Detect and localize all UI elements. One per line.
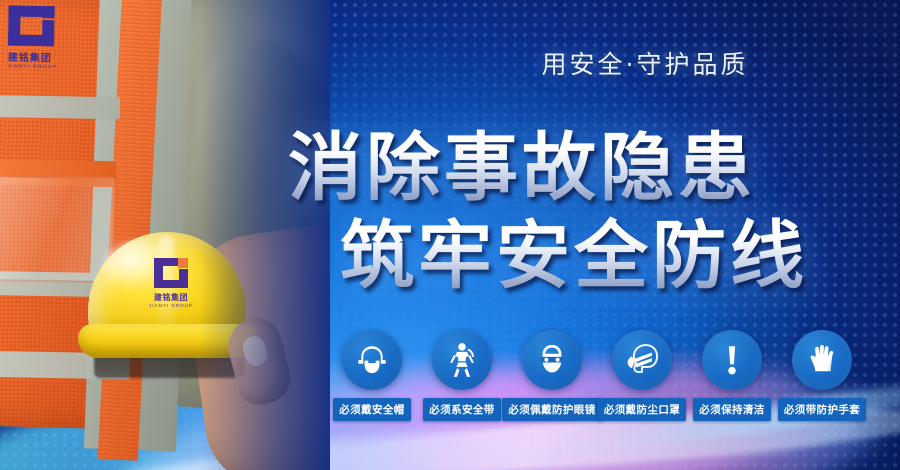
vest-logo-name-en: JIANYI GROUP bbox=[8, 63, 70, 70]
safety-gloves-icon bbox=[792, 330, 852, 390]
poster-subtitle: 用安全·守护品质 bbox=[455, 45, 835, 81]
safety-icon-item: 必须保持清洁 bbox=[696, 330, 768, 421]
safety-icon-item: 必须戴防尘口罩 bbox=[606, 330, 678, 421]
helmet-company-logo: 建铭集团 JIANYI GROUP bbox=[134, 258, 208, 314]
helmet-logo-name-en: JIANYI GROUP bbox=[134, 303, 208, 308]
vest-logo-name-cn: 建铭集团 bbox=[8, 48, 70, 64]
safety-icon-row: 必须戴安全帽必须系安全带必须佩戴防护眼镜必须戴防尘口罩必须保持清洁必须带防护手套 bbox=[336, 330, 876, 421]
safety-harness-icon bbox=[432, 330, 492, 390]
safety-icon-item: 必须系安全带 bbox=[426, 330, 498, 421]
safety-icon-label: 必须佩戴防护眼镜 bbox=[502, 398, 601, 421]
safety-icon-item: 必须带防护手套 bbox=[786, 330, 858, 421]
safety-icon-label: 必须保持清洁 bbox=[693, 398, 770, 421]
headline-line-2: 筑牢安全防线 bbox=[340, 196, 808, 303]
safety-icon-label: 必须戴防尘口罩 bbox=[598, 398, 686, 421]
company-mark-icon bbox=[8, 5, 55, 46]
exclamation-icon bbox=[702, 330, 762, 390]
safety-goggles-icon bbox=[522, 330, 582, 390]
worker-photo: 建铭集团 JIANYI GROUP 建铭集团 JIANYI GROUP bbox=[0, 0, 330, 470]
safety-icon-label: 必须带防护手套 bbox=[778, 398, 866, 421]
dust-mask-icon bbox=[612, 330, 672, 390]
safety-helmet-icon bbox=[342, 330, 402, 390]
safety-icon-item: 必须戴安全帽 bbox=[336, 330, 408, 421]
company-mark-icon bbox=[154, 258, 188, 288]
safety-icon-item: 必须佩戴防护眼镜 bbox=[516, 330, 588, 421]
safety-icon-label: 必须戴安全帽 bbox=[333, 398, 410, 421]
reflective-strip bbox=[0, 95, 120, 120]
helmet-logo-name-cn: 建铭集团 bbox=[134, 292, 208, 303]
photo-edge-fade bbox=[200, 0, 330, 470]
safety-poster: 建铭集团 JIANYI GROUP 建铭集团 JIANYI GROUP 用安全·… bbox=[0, 0, 900, 470]
vest-company-logo: 建铭集团 JIANYI GROUP bbox=[7, 5, 70, 84]
safety-icon-label: 必须系安全带 bbox=[423, 398, 500, 421]
